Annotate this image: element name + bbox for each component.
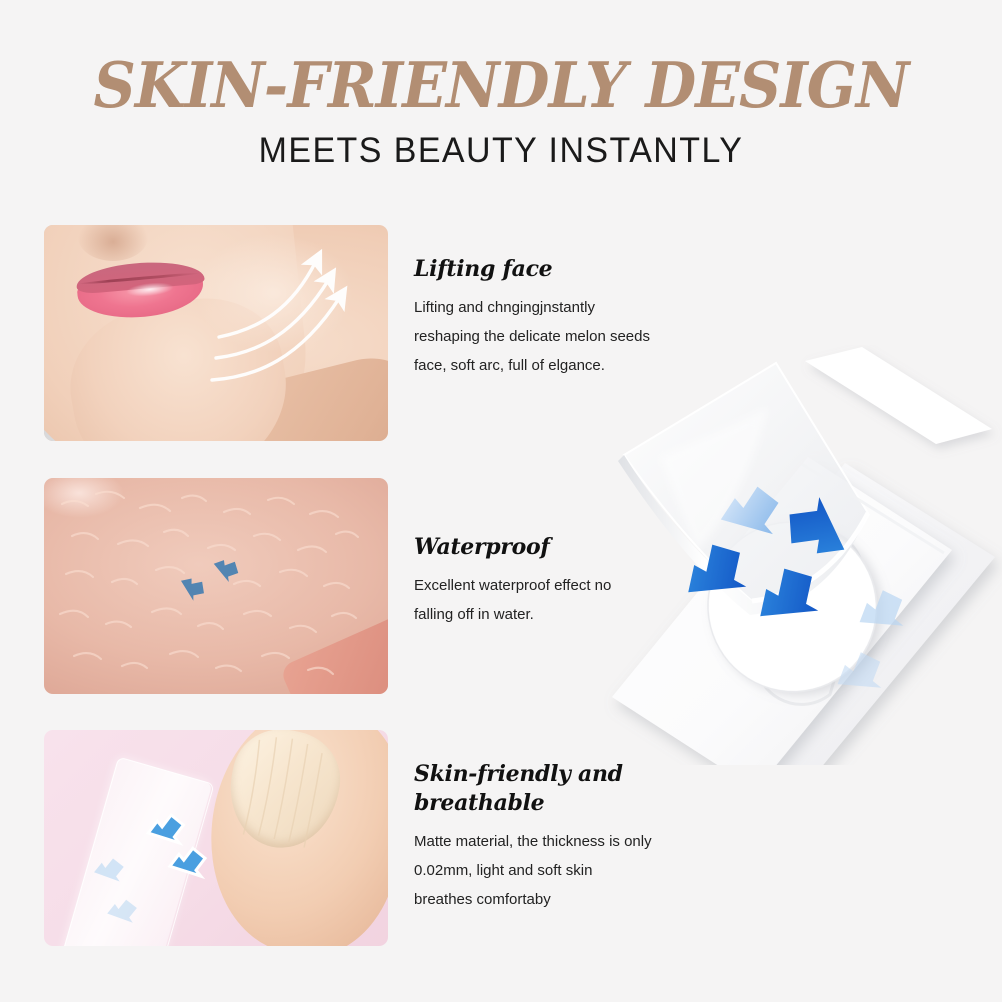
feature-row: Skin-friendly and breathable Matte mater… [0, 730, 660, 946]
wet-skin-texture [44, 478, 388, 694]
header: SKIN-FRIENDLY DESIGN MEETS BEAUTY INSTAN… [0, 0, 1002, 171]
strip-detail-overlay [44, 730, 388, 946]
page-title: SKIN-FRIENDLY DESIGN [35, 0, 967, 117]
product-hero-image [600, 345, 1002, 765]
hero-top-strip [805, 347, 992, 444]
feature-body: Matte material, the thickness is only 0.… [414, 818, 654, 914]
lifting-arrows-icon [44, 225, 388, 441]
photo-waterproof [44, 478, 388, 694]
feature-row: Waterproof Excellent waterproof effect n… [0, 478, 660, 694]
photo-breathable [44, 730, 388, 946]
photo-lifting-face [44, 225, 388, 441]
page-subtitle: MEETS BEAUTY INSTANTLY [15, 117, 987, 171]
feature-row: Lifting face Lifting and chngingjnstantl… [0, 225, 660, 441]
feature-heading: Lifting face [414, 255, 654, 284]
feature-heading: Skin-friendly and breathable [414, 760, 654, 818]
feature-text-block: Skin-friendly and breathable Matte mater… [414, 760, 654, 914]
